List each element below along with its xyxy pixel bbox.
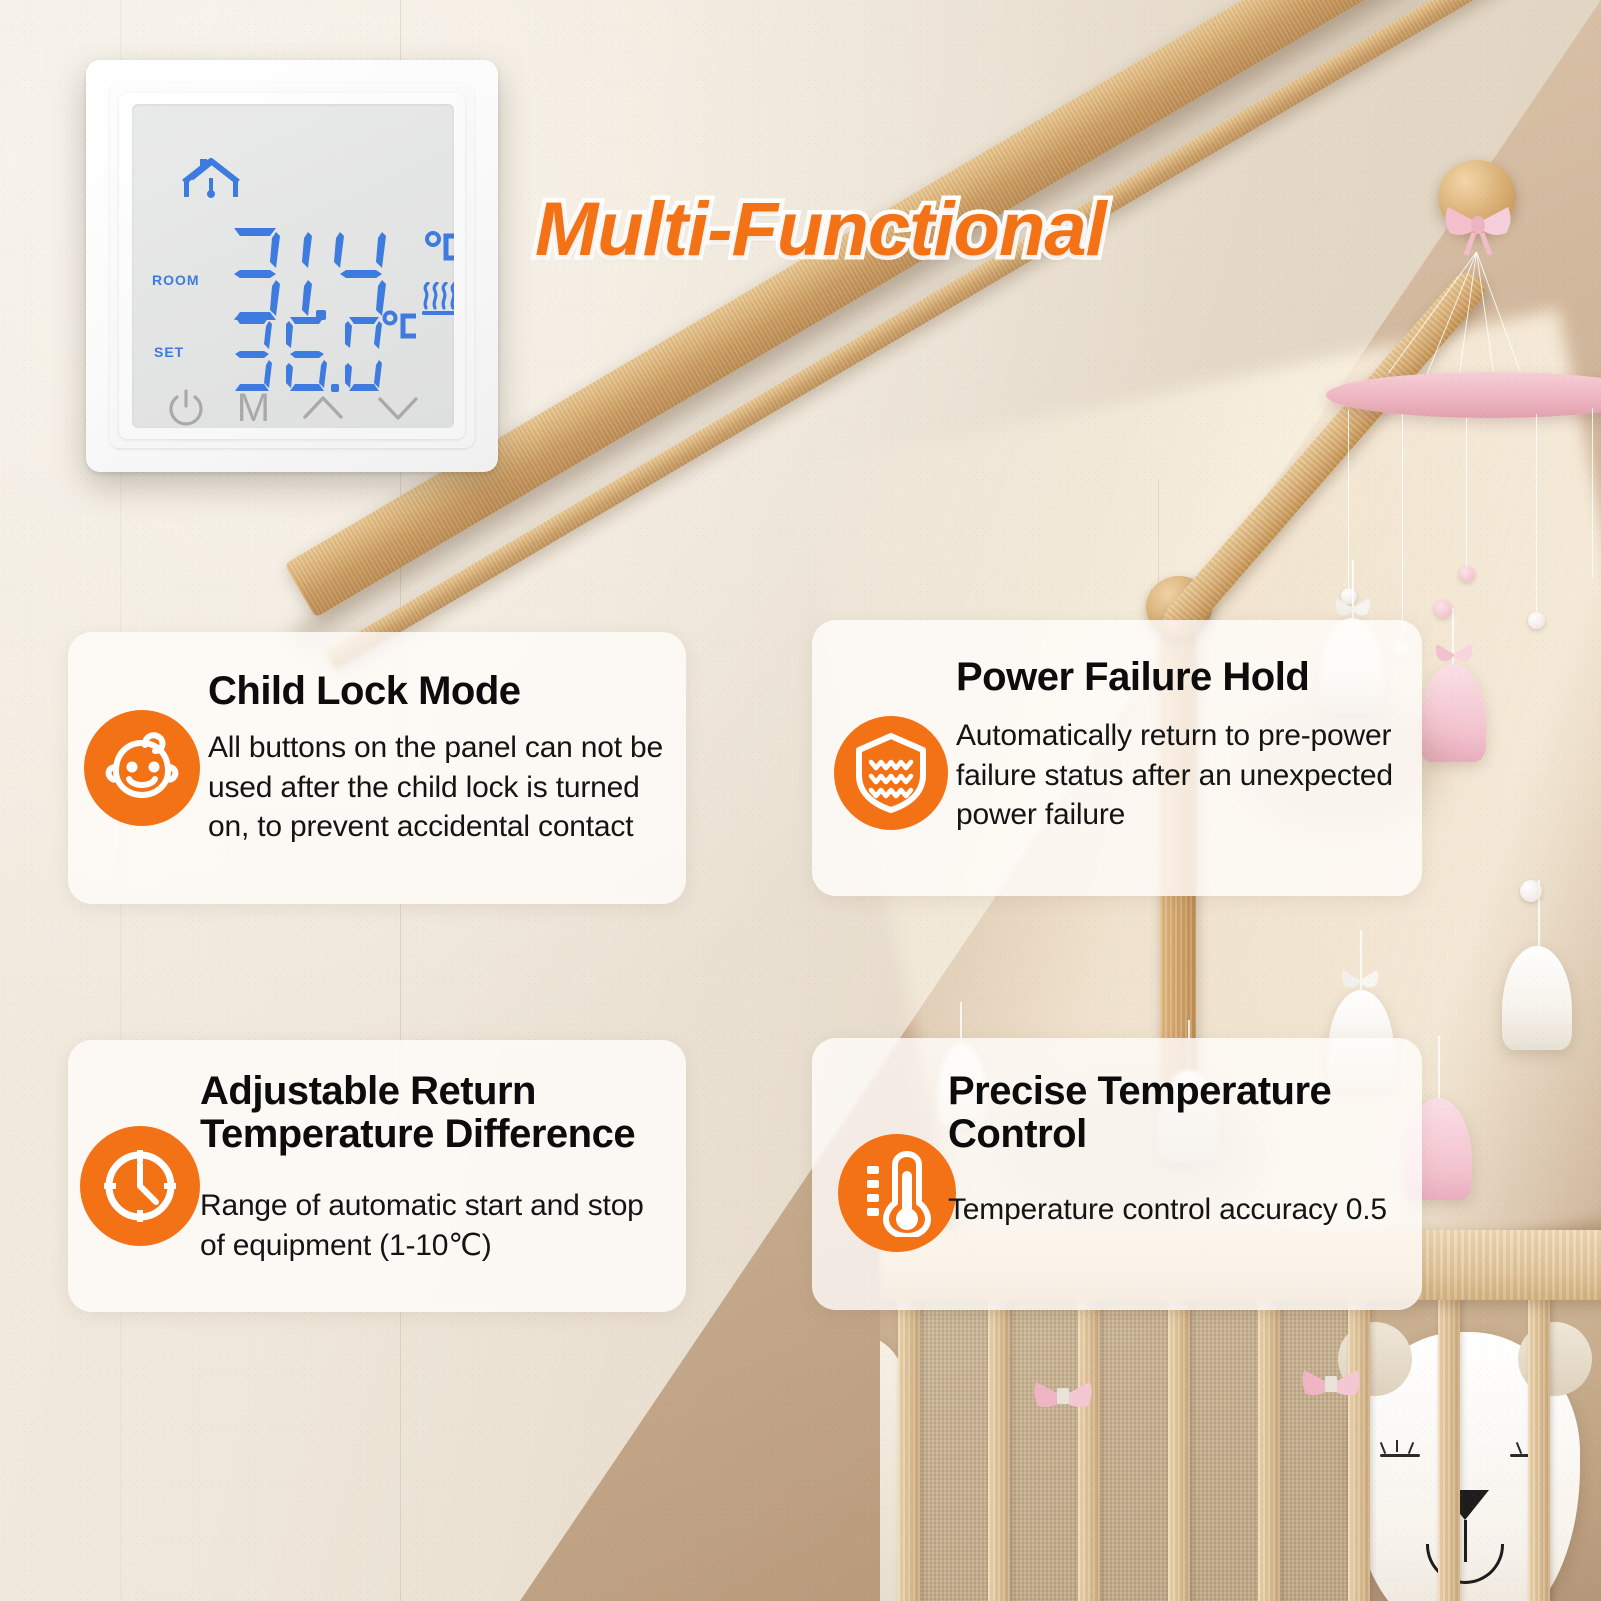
feature-title: Child Lock Mode [208, 670, 521, 713]
thermometer-icon [838, 1134, 956, 1252]
feature-title: Adjustable Return Temperature Difference [200, 1070, 690, 1156]
page-title: Multi-Functional [535, 186, 1106, 273]
feature-card-power-failure-hold: Power Failure Hold Automatically return … [812, 620, 1422, 896]
feature-card-precise-temp-control: Precise Temperature Control Temperature … [812, 1038, 1422, 1310]
room-temperature-value [224, 224, 424, 324]
room-temperature-unit [424, 230, 454, 266]
feature-card-child-lock: Child Lock Mode All buttons on the panel… [68, 632, 686, 904]
feature-title: Precise Temperature Control [948, 1070, 1398, 1156]
feature-body: Automatically return to pre-power failur… [956, 716, 1408, 835]
clock-icon [80, 1126, 200, 1246]
house-thermometer-icon [180, 156, 242, 200]
chevron-down-icon[interactable] [376, 391, 420, 425]
set-temperature-unit [382, 310, 420, 344]
thermostat-device[interactable]: ROOM SET [86, 60, 498, 472]
thermostat-button-row: M [132, 388, 454, 428]
thermostat-lcd-screen: ROOM SET [132, 104, 454, 428]
feature-body: All buttons on the panel can not be used… [208, 728, 678, 847]
chevron-up-icon[interactable] [301, 391, 345, 425]
shield-waves-icon [834, 716, 948, 830]
feature-body: Temperature control accuracy 0.5 [948, 1190, 1448, 1230]
set-label: SET [154, 344, 184, 360]
power-icon[interactable] [166, 388, 206, 428]
feature-card-return-temp-difference: Adjustable Return Temperature Difference… [68, 1040, 686, 1312]
floor-heating-icon [420, 282, 454, 316]
room-label: ROOM [152, 272, 200, 288]
set-temperature-value [227, 314, 387, 394]
mode-button[interactable]: M [237, 388, 270, 428]
feature-title: Power Failure Hold [956, 656, 1309, 699]
product-feature-graphic: ROOM SET [0, 0, 1601, 1601]
baby-face-icon [84, 710, 200, 826]
feature-body: Range of automatic start and stop of equ… [200, 1186, 670, 1265]
